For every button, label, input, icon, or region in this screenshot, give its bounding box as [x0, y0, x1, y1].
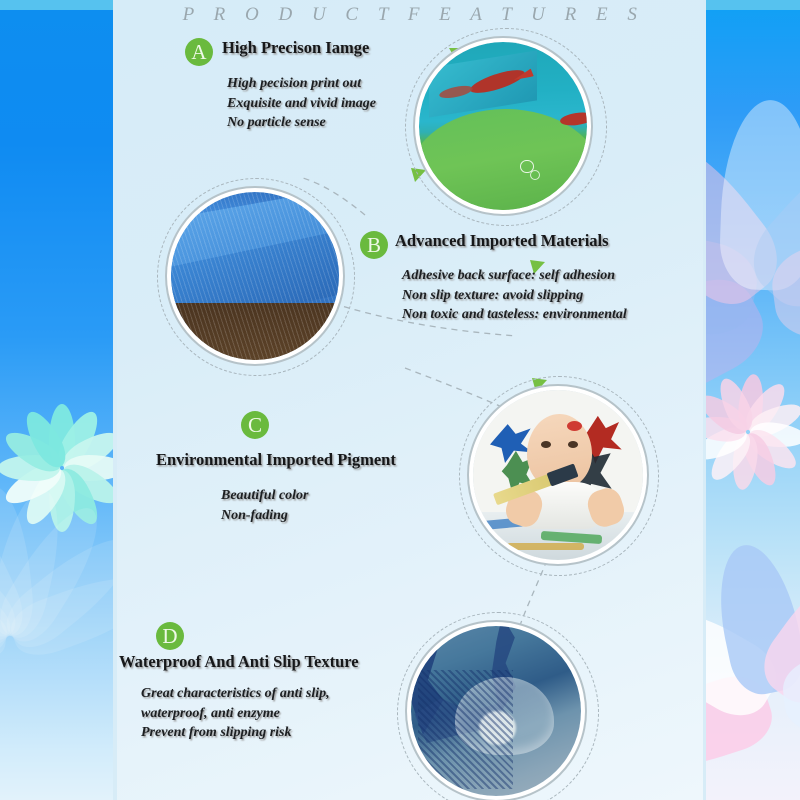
- photo-c-baby-painting: [473, 390, 643, 560]
- heading-a: High Precison Iamge: [222, 38, 369, 58]
- left-decorative-band: [0, 0, 113, 800]
- heading-b: Advanced Imported Materials: [395, 231, 609, 251]
- body-a-line-3: No particle sense: [227, 113, 376, 133]
- body-b-line-2: Non slip texture: avoid slipping: [402, 286, 627, 306]
- body-a: High pecision print out Exquisite and vi…: [227, 74, 376, 133]
- photo-b-art: [171, 192, 339, 360]
- photo-c-art: [473, 390, 643, 560]
- band-top-cap-right: [706, 0, 800, 10]
- infographic-canvas: P R O D U C T F E A T U R E S: [0, 0, 800, 800]
- heading-d: Waterproof And Anti Slip Texture: [119, 652, 359, 672]
- badge-d: D: [156, 622, 184, 650]
- band-top-cap: [0, 0, 113, 10]
- photo-a-fish-print: [419, 42, 587, 210]
- body-d: Great characteristics of anti slip, wate…: [141, 684, 330, 743]
- body-b-line-3: Non toxic and tasteless: environmental: [402, 305, 627, 325]
- body-a-line-1: High pecision print out: [227, 74, 376, 94]
- photo-a-art: [419, 42, 587, 210]
- photo-b-fabric: [171, 192, 339, 360]
- badge-c: C: [241, 411, 269, 439]
- body-d-line-1: Great characteristics of anti slip,: [141, 684, 330, 704]
- body-c-line-2: Non-fading: [221, 506, 309, 526]
- body-d-line-2: waterproof, anti enzyme: [141, 704, 330, 724]
- page-title: P R O D U C T F E A T U R E S: [117, 4, 703, 26]
- photo-d-waterdrop: [411, 626, 581, 796]
- body-c-line-1: Beautiful color: [221, 486, 309, 506]
- right-decorative-band: [706, 0, 800, 800]
- heading-c: Environmental Imported Pigment: [156, 450, 396, 470]
- body-b: Adhesive back surface: self adhesion Non…: [402, 266, 627, 325]
- body-c: Beautiful color Non-fading: [221, 486, 309, 525]
- body-d-line-3: Prevent from slipping risk: [141, 723, 330, 743]
- content-panel: P R O D U C T F E A T U R E S: [117, 0, 703, 800]
- body-a-line-2: Exquisite and vivid image: [227, 94, 376, 114]
- photo-d-art: [411, 626, 581, 796]
- badge-a: A: [185, 38, 213, 66]
- body-b-line-1: Adhesive back surface: self adhesion: [402, 266, 627, 286]
- badge-b: B: [360, 231, 388, 259]
